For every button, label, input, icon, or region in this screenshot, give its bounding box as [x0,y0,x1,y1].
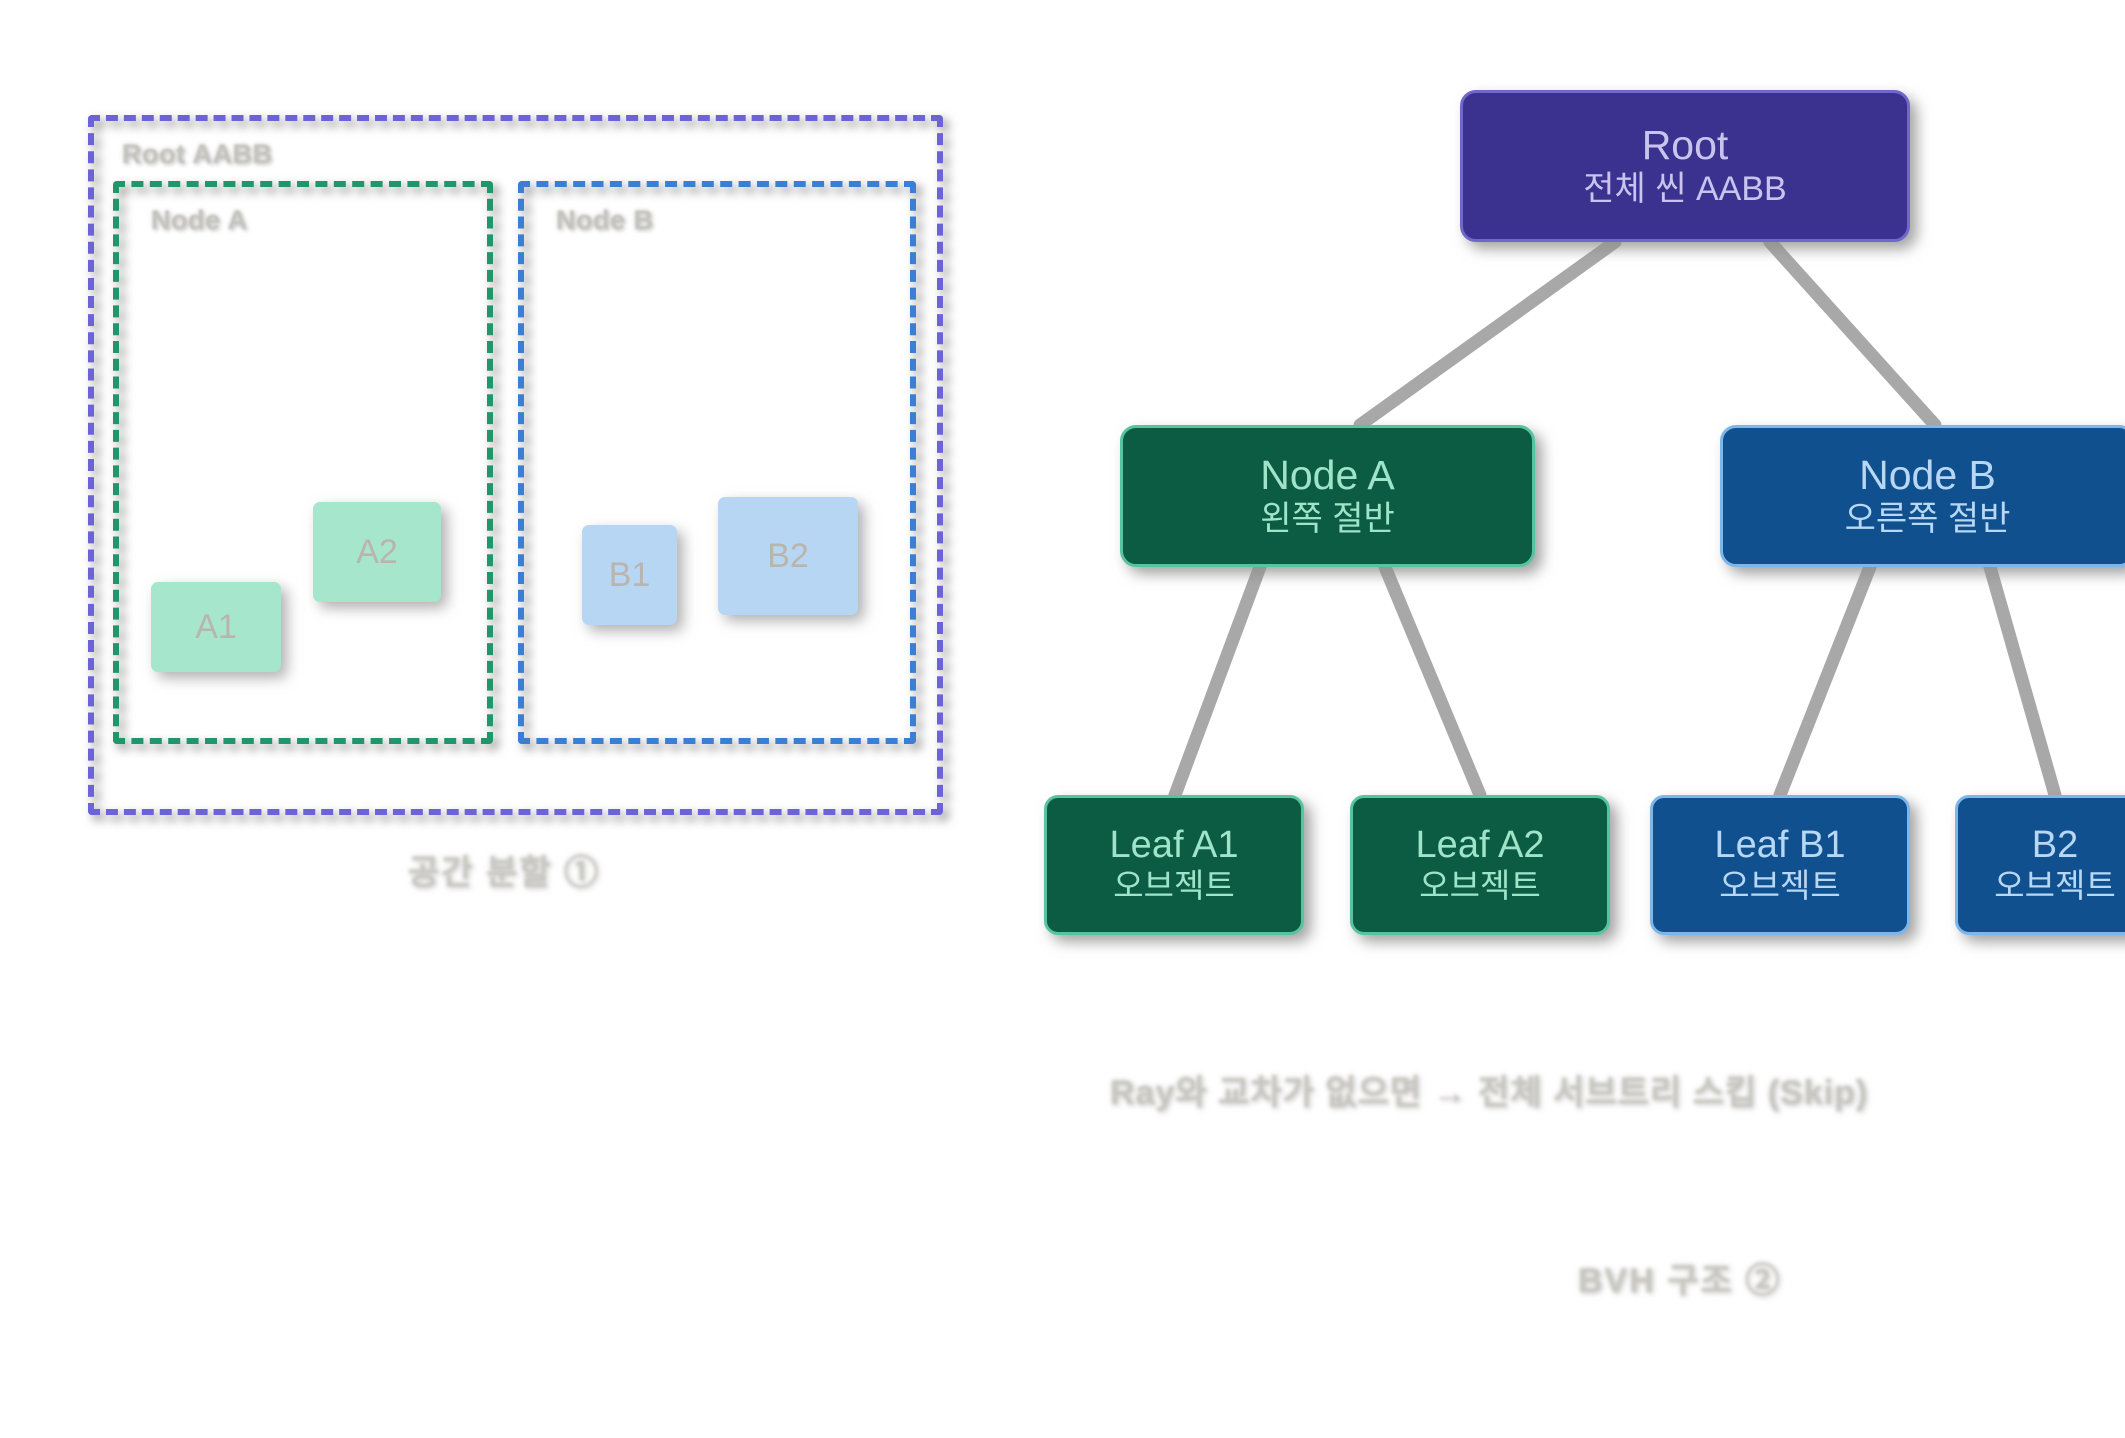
tree-leaf-a1[interactable]: Leaf A1 오브젝트 [1044,795,1304,935]
tree-node-a[interactable]: Node A 왼쪽 절반 [1120,425,1535,567]
tree-leaf-a1-subtitle: 오브젝트 [1113,867,1234,906]
tree-node-a-title: Node A [1260,453,1395,499]
tree-leaf-a2-subtitle: 오브젝트 [1419,867,1540,906]
tree-leaf-a2[interactable]: Leaf A2 오브젝트 [1350,795,1610,935]
tree-leaf-b1-title: Leaf B1 [1715,824,1846,867]
tree-leaf-b2[interactable]: B2 오브젝트 [1955,795,2125,935]
tree-leaf-b1-subtitle: 오브젝트 [1719,867,1840,906]
tree-leaf-a2-title: Leaf A2 [1416,824,1545,867]
tree-node-b[interactable]: Node B 오른쪽 절반 [1720,425,2125,567]
object-box-a2: A2 [313,502,441,602]
tree-footer-caption: BVH 구조 ② [1578,1253,1781,1302]
tree-node-root[interactable]: Root 전체 씬 AABB [1460,90,1910,242]
root-aabb-label: Root AABB [122,139,272,170]
tree-leaf-b1[interactable]: Leaf B1 오브젝트 [1650,795,1910,935]
tree-caption: Ray와 교차가 없으면 → 전체 서브트리 스킵 (Skip) [1110,1065,1868,1114]
tree-node-b-subtitle: 오른쪽 절반 [1845,499,2011,539]
node-b-aabb-label: Node B [556,205,654,236]
tree-node-root-subtitle: 전체 씬 AABB [1583,169,1786,209]
edge-node-a-to-leaf-a1 [1175,567,1260,795]
diagram-canvas: Root AABB Node A Node B A1 A2 B1 B2 공간 분… [0,0,2125,1438]
tree-leaf-b2-title: B2 [2032,824,2078,867]
edge-node-b-to-leaf-b2 [1990,567,2055,795]
left-panel-caption: 공간 분할 ① [408,845,600,894]
edge-node-a-to-leaf-a2 [1385,567,1480,795]
tree-leaf-a1-title: Leaf A1 [1110,824,1239,867]
tree-node-root-title: Root [1642,123,1729,169]
object-box-b2: B2 [718,497,858,615]
edge-root-to-node-a [1360,242,1615,425]
bvh-tree: Root 전체 씬 AABB Node A 왼쪽 절반 Node B 오른쪽 절… [1030,80,2125,960]
object-box-b1: B1 [582,525,677,625]
tree-node-b-title: Node B [1859,453,1996,499]
spatial-partition-panel: Root AABB Node A Node B A1 A2 B1 B2 [88,115,943,815]
node-a-aabb-label: Node A [151,205,248,236]
edge-root-to-node-b [1770,242,1935,425]
tree-node-a-subtitle: 왼쪽 절반 [1260,499,1395,539]
node-b-aabb-boundary [518,181,916,744]
edge-node-b-to-leaf-b1 [1780,567,1870,795]
tree-leaf-b2-subtitle: 오브젝트 [1994,867,2115,906]
object-box-a1: A1 [151,582,281,672]
